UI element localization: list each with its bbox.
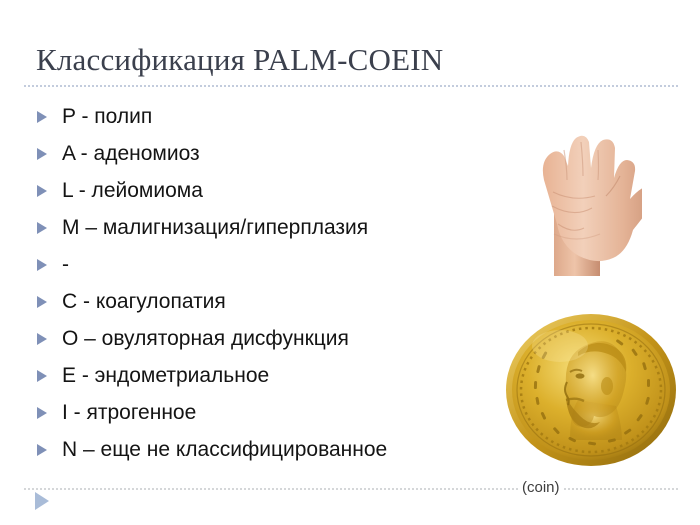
list-item-label: O – овуляторная дисфункция <box>54 326 349 352</box>
list-item[interactable]: - <box>30 246 500 283</box>
list-item[interactable]: N – еще не классифицированное <box>30 431 500 468</box>
list-item-label: E - эндометриальное <box>54 363 269 389</box>
triangle-bullet-icon <box>30 333 54 345</box>
triangle-bullet-icon <box>30 370 54 382</box>
gold-coin-image <box>504 312 678 468</box>
list-item-label: L - лейомиома <box>54 178 203 204</box>
list-item[interactable]: L - лейомиома <box>30 172 500 209</box>
list-item-label: I - ятрогенное <box>54 400 196 426</box>
bullet-list: P - полип A - аденомиоз L - лейомиома M … <box>30 98 500 468</box>
open-palm-hand-image <box>520 84 642 276</box>
list-item[interactable]: M – малигнизация/гиперплазия <box>30 209 500 246</box>
triangle-bullet-icon <box>30 444 54 456</box>
triangle-bullet-icon <box>30 148 54 160</box>
list-item[interactable]: E - эндометриальное <box>30 357 500 394</box>
list-item-label: A - аденомиоз <box>54 141 200 167</box>
list-item-label: P - полип <box>54 104 152 130</box>
footer-divider <box>24 488 678 490</box>
list-item[interactable]: P - полип <box>30 98 500 135</box>
triangle-bullet-icon <box>30 111 54 123</box>
page-title: Классификация PALM-COEIN <box>36 40 556 84</box>
list-item-label: C - коагулопатия <box>54 289 226 315</box>
triangle-bullet-icon <box>30 259 54 271</box>
triangle-bullet-icon <box>30 185 54 197</box>
triangle-bullet-icon <box>30 222 54 234</box>
list-item-label: N – еще не классифицированное <box>54 437 387 463</box>
list-item[interactable]: C - коагулопатия <box>30 283 500 320</box>
footer-triangle-bullet-icon[interactable] <box>35 492 49 510</box>
list-item[interactable]: A - аденомиоз <box>30 135 500 172</box>
triangle-bullet-icon <box>30 407 54 419</box>
list-item[interactable]: I - ятрогенное <box>30 394 500 431</box>
triangle-bullet-icon <box>30 296 54 308</box>
slide: Классификация PALM-COEIN P - полип A - а… <box>0 0 700 525</box>
list-item-label: - <box>54 252 69 278</box>
list-item[interactable]: O – овуляторная дисфункция <box>30 320 500 357</box>
list-item-label: M – малигнизация/гиперплазия <box>54 215 368 241</box>
coin-caption: (coin) <box>518 478 564 498</box>
